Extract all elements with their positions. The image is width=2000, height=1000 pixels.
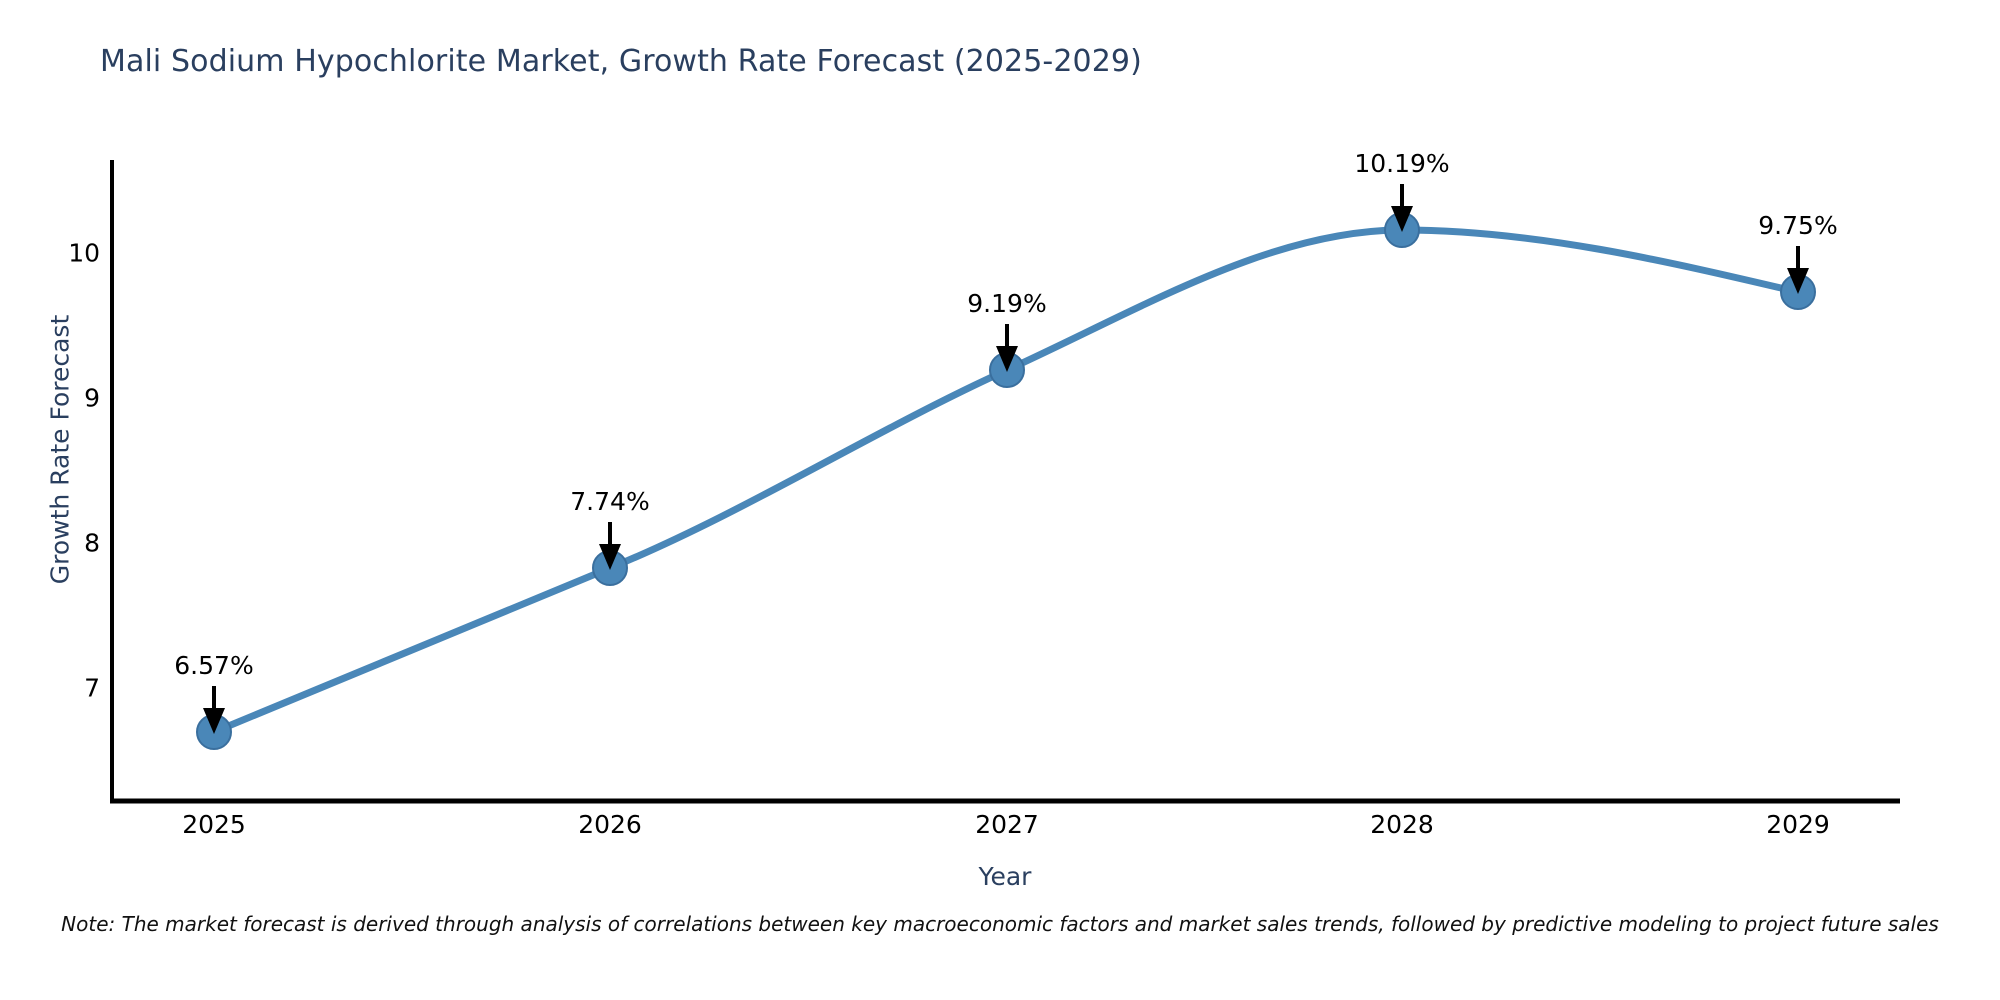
data-label-2028: 10.19% (1292, 149, 1512, 178)
data-label-2029: 9.75% (1688, 211, 1908, 240)
x-tick-label-2025: 2025 (134, 810, 294, 839)
x-tick-label-2029: 2029 (1718, 810, 1878, 839)
x-tick-label-2027: 2027 (927, 810, 1087, 839)
data-label-2027: 9.19% (897, 289, 1117, 318)
x-tick-label-2026: 2026 (530, 810, 690, 839)
data-label-2025: 6.57% (104, 651, 324, 680)
x-tick-label-2028: 2028 (1322, 810, 1482, 839)
data-label-2026: 7.74% (500, 487, 720, 516)
x-axis-label: Year (0, 862, 2000, 891)
chart-container: Mali Sodium Hypochlorite Market, Growth … (0, 0, 2000, 1000)
chart-footnote: Note: The market forecast is derived thr… (0, 912, 2000, 936)
plot-area (0, 0, 2000, 1000)
